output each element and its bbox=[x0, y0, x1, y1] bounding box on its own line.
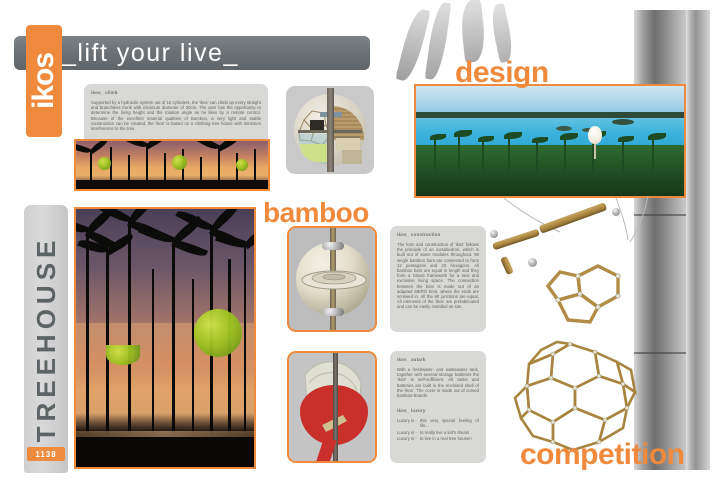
mero-knot bbox=[612, 208, 620, 216]
board-margin bbox=[710, 0, 720, 480]
panel-autark-body: With a freshwater- and wastewater tank, … bbox=[397, 367, 479, 398]
luxury-item-label: Luxury is - bbox=[397, 430, 417, 435]
photo-lagoon bbox=[414, 84, 686, 198]
luxury-item-text: to really live a kid's dream bbox=[420, 430, 479, 435]
board-margin bbox=[0, 0, 720, 10]
mero-knot bbox=[490, 230, 498, 238]
entry-number-badge: 1138 bbox=[27, 447, 65, 461]
page-title: _lift your live_ bbox=[62, 36, 239, 70]
brand-logo: ikos bbox=[26, 25, 62, 137]
photo-sunset-strip bbox=[74, 139, 270, 191]
detail-suspension-lines bbox=[498, 196, 658, 266]
mero-knot bbox=[528, 258, 537, 267]
panel-luxury-heading: ikos_ luxury bbox=[397, 408, 479, 414]
panel-climb: ikos_ climb Supported by a hydraulic sys… bbox=[84, 84, 268, 146]
heading-bamboo: bamboo bbox=[263, 197, 369, 229]
panel-climb-body: Supported by a hydraulic system out of 1… bbox=[91, 100, 261, 131]
luxury-item: Luxury is - to live in a real tree house… bbox=[397, 436, 479, 441]
render-shell bbox=[287, 351, 377, 463]
egg-pod bbox=[588, 126, 602, 144]
backdrop-bamboo-stalk-secondary bbox=[686, 0, 710, 480]
panel-construction: ikos_ construction The form and construc… bbox=[390, 226, 486, 332]
panel-autark-heading: ikos_ autark bbox=[397, 357, 479, 363]
panel-climb-heading: ikos_ climb bbox=[91, 90, 261, 96]
panel-autark-luxury: ikos_ autark With a freshwater- and wast… bbox=[390, 351, 486, 463]
detail-frames-pentagon-hexagon bbox=[540, 262, 670, 332]
heading-competition: competition bbox=[520, 438, 685, 472]
presentation-board: _lift your live_ ikos TREEHOUSE 1138 iko… bbox=[0, 0, 720, 480]
luxury-item-text: to live in a real tree house!! bbox=[420, 436, 479, 441]
luxury-item: Luxury is - to really live a kid's dream bbox=[397, 430, 479, 435]
project-name: TREEHOUSE bbox=[24, 205, 68, 473]
panel-construction-heading: ikos_ construction bbox=[397, 232, 479, 238]
luxury-item-label: Luxury is - bbox=[397, 436, 417, 441]
rotation-disc-icon bbox=[289, 228, 377, 332]
luxury-item-label: Luxury is - bbox=[397, 418, 417, 428]
render-structure bbox=[287, 226, 377, 332]
panel-luxury-items: Luxury is - this very special feeling of… bbox=[397, 418, 479, 441]
decor-leaf bbox=[459, 0, 487, 63]
decor-leaf bbox=[488, 3, 516, 63]
luxury-item-text: this very special feeling of life... bbox=[420, 418, 479, 428]
treehouse-pod bbox=[106, 345, 140, 365]
render-cutaway bbox=[286, 86, 374, 174]
panel-construction-body: The form and construction of 'ikos' foll… bbox=[397, 242, 479, 310]
treehouse-pod bbox=[194, 309, 242, 357]
board-margin bbox=[0, 0, 10, 480]
luxury-item: Luxury is - this very special feeling of… bbox=[397, 418, 479, 428]
photo-sunset-large bbox=[74, 207, 256, 469]
heading-design: design bbox=[455, 56, 549, 90]
